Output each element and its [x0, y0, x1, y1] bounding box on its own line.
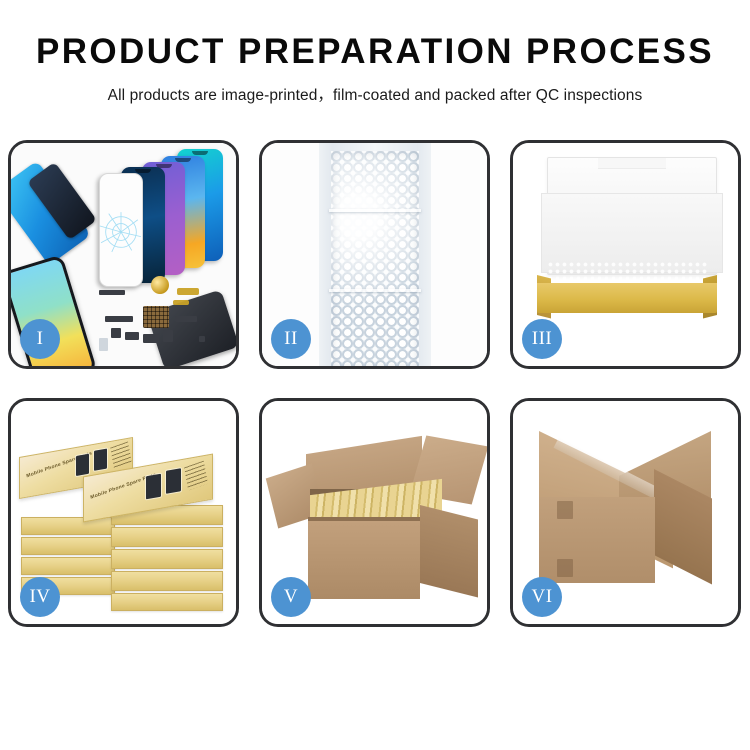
part-icon [99, 290, 125, 295]
phone-print-icon [94, 449, 107, 471]
part-icon [111, 328, 121, 338]
step-panel-1: I [8, 140, 239, 369]
step-badge-1: I [20, 319, 60, 359]
stacked-box-icon [21, 557, 115, 575]
phone-print-icon [76, 454, 89, 476]
phone-screen-glass-icon [99, 173, 143, 287]
sim-tray-icon [99, 338, 108, 351]
step-panel-2: II [259, 140, 490, 369]
carton-front-face [308, 521, 420, 599]
carton-flap-tab [557, 501, 573, 519]
carton-side-face [420, 505, 478, 597]
bubble-wrap-icon [331, 151, 419, 366]
phone-print-icon [146, 474, 161, 500]
phone-print-icon [166, 468, 181, 494]
part-icon [105, 316, 133, 322]
chip-icon [143, 306, 169, 328]
step-badge-3: III [522, 319, 562, 359]
spare-parts-group [99, 276, 231, 362]
part-icon [143, 334, 159, 343]
wrap-seam [329, 209, 421, 212]
stacked-box-icon [111, 527, 223, 547]
step-panel-4: Mobile Phone Spare Parts Mobile Phone Sp… [8, 398, 239, 627]
wrap-seam [329, 289, 421, 292]
step-panel-3: III [510, 140, 741, 369]
step-badge-6: VI [522, 577, 562, 617]
kraft-box-base-icon [537, 283, 717, 313]
part-icon [125, 332, 139, 340]
step-panel-5: V [259, 398, 490, 627]
stacked-box-icon [111, 549, 223, 569]
carton-flap-tab [557, 559, 573, 577]
flex-cable-icon [177, 288, 199, 295]
box-spec-lines [110, 441, 132, 468]
step-badge-2: II [271, 319, 311, 359]
step-panel-6: VI [510, 398, 741, 627]
phone-screen-fan [99, 149, 236, 279]
speaker-coil-icon [151, 276, 169, 294]
screw-icon [199, 336, 205, 342]
page-header: PRODUCT PREPARATION PROCESS All products… [0, 0, 750, 105]
process-steps-grid: I II III [8, 140, 742, 627]
stacked-box-icon [111, 593, 223, 611]
part-icon [163, 330, 173, 342]
cracked-glass-icon [98, 209, 144, 255]
stacked-box-icon [111, 571, 223, 591]
page-subtitle: All products are image-printed，film-coat… [0, 83, 750, 105]
page-title: PRODUCT PREPARATION PROCESS [0, 34, 750, 69]
flex-cable-icon [173, 300, 189, 305]
part-icon [175, 316, 197, 322]
box-spec-lines [184, 461, 208, 491]
stacked-box-icon [21, 537, 115, 555]
stacked-box-icon [21, 517, 115, 535]
step-badge-4: IV [20, 577, 60, 617]
step-badge-5: V [271, 577, 311, 617]
